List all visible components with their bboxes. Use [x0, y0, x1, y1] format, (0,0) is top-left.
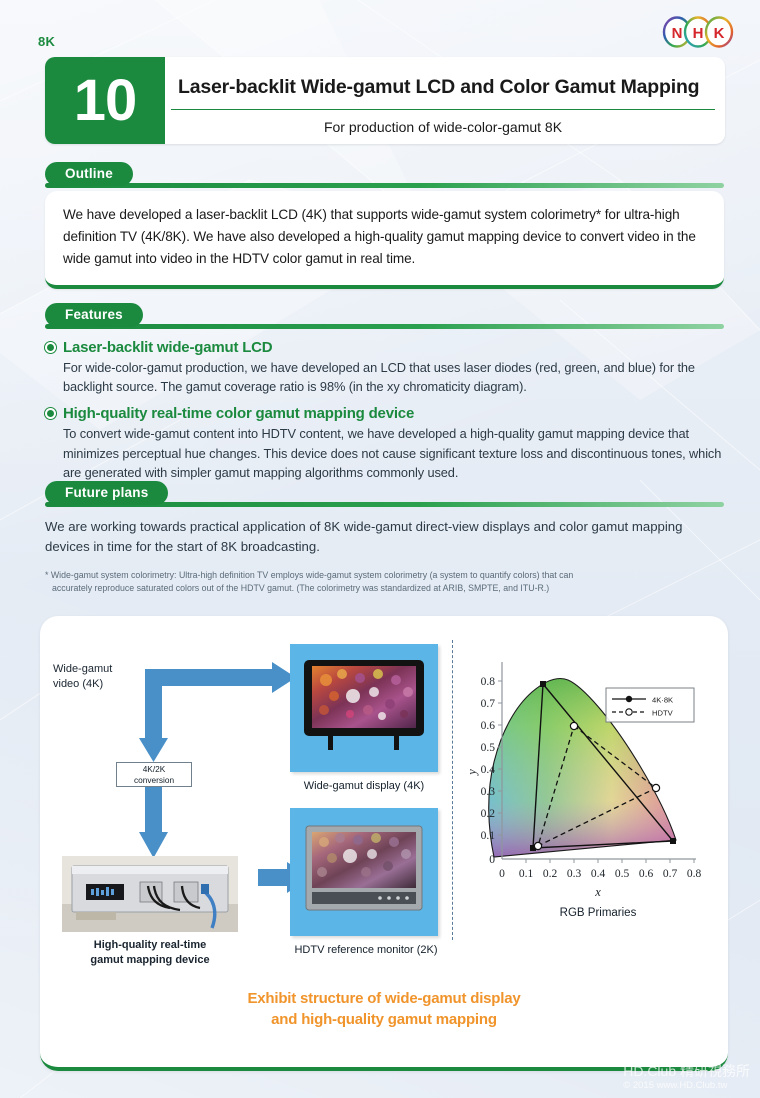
title-bar: 10 Laser-backlit Wide-gamut LCD and Colo… [45, 57, 725, 144]
outline-header-row: Outline [45, 162, 724, 189]
item-number-badge: 10 [45, 57, 165, 144]
feature-body: For wide-color-gamut production, we have… [63, 358, 724, 396]
feature-item: High-quality real-time color gamut mappi… [45, 405, 724, 482]
features-label: Features [45, 303, 143, 327]
outline-card: We have developed a laser-backlit LCD (4… [45, 191, 724, 289]
device-caption: High-quality real-time gamut mapping dev… [62, 938, 238, 968]
watermark-line-1: HD.Club 精研視務所 [623, 1063, 750, 1081]
svg-text:HDTV: HDTV [652, 709, 674, 718]
svg-text:0.6: 0.6 [639, 868, 654, 880]
bullet-icon [45, 342, 56, 353]
conversion-line-1: 4K/2K [143, 764, 166, 774]
svg-text:0.8: 0.8 [481, 676, 496, 688]
section-features: Features Laser-backlit wide-gamut LCD Fo… [45, 303, 724, 482]
svg-text:0.3: 0.3 [567, 868, 582, 880]
display-caption: Wide-gamut display (4K) [284, 780, 444, 792]
outline-rule [45, 183, 724, 188]
svg-text:N: N [672, 25, 683, 42]
wide-gamut-display-panel [290, 644, 438, 772]
svg-text:H: H [693, 25, 704, 42]
footnote-line-1: * Wide-gamut system colorimetry: Ultra-h… [45, 570, 573, 580]
watermark: HD.Club 精研視務所 © 2015 www.HD.Club.tw [623, 1063, 750, 1092]
svg-text:0.1: 0.1 [481, 830, 496, 842]
svg-text:0: 0 [499, 868, 505, 880]
svg-text:0: 0 [489, 854, 495, 866]
watermark-line-2: © 2015 www.HD.Club.tw [623, 1080, 750, 1092]
feature-item: Laser-backlit wide-gamut LCD For wide-co… [45, 339, 724, 396]
monitor-caption: HDTV reference monitor (2K) [276, 944, 456, 956]
chromaticity-chart: 0 0.10.2 0.30.4 0.50.6 0.70.8 y 00.1 0.2… [460, 644, 716, 926]
figure-panel: Wide-gamut video (4K) 4K/2K conversion [40, 616, 728, 1071]
gamut-mapping-device-photo [62, 856, 238, 932]
outline-label: Outline [45, 162, 133, 186]
feature-heading: High-quality real-time color gamut mappi… [63, 405, 414, 422]
feature-heading-row: High-quality real-time color gamut mappi… [45, 405, 724, 422]
svg-text:y: y [465, 769, 479, 777]
svg-text:K: K [714, 25, 725, 42]
svg-text:0.4: 0.4 [481, 764, 496, 776]
svg-text:0.1: 0.1 [519, 868, 534, 880]
category-label: 8K [38, 34, 55, 49]
section-outline: Outline We have developed a laser-backli… [45, 162, 724, 289]
svg-text:4K·8K: 4K·8K [652, 696, 673, 705]
page-title: Laser-backlit Wide-gamut LCD and Color G… [178, 65, 711, 109]
svg-text:0.5: 0.5 [615, 868, 630, 880]
svg-text:0.7: 0.7 [663, 868, 678, 880]
figure-caption: Exhibit structure of wide-gamut display … [40, 988, 728, 1032]
conversion-line-2: conversion [134, 775, 174, 785]
outline-body: We have developed a laser-backlit LCD (4… [63, 204, 706, 270]
features-header-row: Features [45, 303, 724, 330]
future-plans-label: Future plans [45, 481, 168, 505]
figure-caption-line-1: Exhibit structure of wide-gamut display [40, 988, 728, 1010]
page-subtitle: For production of wide-color-gamut 8K [171, 110, 715, 144]
features-rule [45, 324, 724, 329]
future-plans-header-row: Future plans [45, 481, 724, 508]
svg-text:0.5: 0.5 [481, 742, 496, 754]
svg-text:0.6: 0.6 [481, 720, 496, 732]
device-caption-line-2: gamut mapping device [62, 953, 238, 968]
device-caption-line-1: High-quality real-time [62, 938, 238, 953]
svg-text:0.7: 0.7 [481, 698, 496, 710]
source-label: Wide-gamut video (4K) [53, 662, 112, 692]
section-future-plans: Future plans We are working towards prac… [45, 481, 724, 595]
chart-title: RGB Primaries [560, 907, 637, 919]
footnote-line-2: accurately reproduce saturated colors ou… [45, 582, 724, 595]
feature-heading-row: Laser-backlit wide-gamut LCD [45, 339, 724, 356]
figure-caption-line-2: and high-quality gamut mapping [40, 1009, 728, 1031]
hdtv-monitor-panel [290, 808, 438, 936]
conversion-box: 4K/2K conversion [116, 762, 192, 787]
source-label-line-2: video (4K) [53, 677, 112, 692]
item-number: 10 [74, 72, 137, 130]
source-label-line-1: Wide-gamut [53, 662, 112, 677]
svg-text:0.2: 0.2 [481, 808, 496, 820]
svg-text:0.4: 0.4 [591, 868, 606, 880]
svg-text:0.2: 0.2 [543, 868, 558, 880]
feature-body: To convert wide-gamut content into HDTV … [63, 424, 724, 482]
svg-text:0.8: 0.8 [687, 868, 702, 880]
footnote: * Wide-gamut system colorimetry: Ultra-h… [45, 569, 724, 595]
svg-text:x: x [594, 885, 601, 899]
nhk-logo: N H K [662, 16, 734, 48]
svg-text:0.3: 0.3 [481, 786, 496, 798]
chart-legend: 4K·8K HDTV [606, 688, 694, 722]
feature-heading: Laser-backlit wide-gamut LCD [63, 339, 272, 356]
future-plans-body: We are working towards practical applica… [45, 517, 724, 558]
bullet-icon [45, 408, 56, 419]
